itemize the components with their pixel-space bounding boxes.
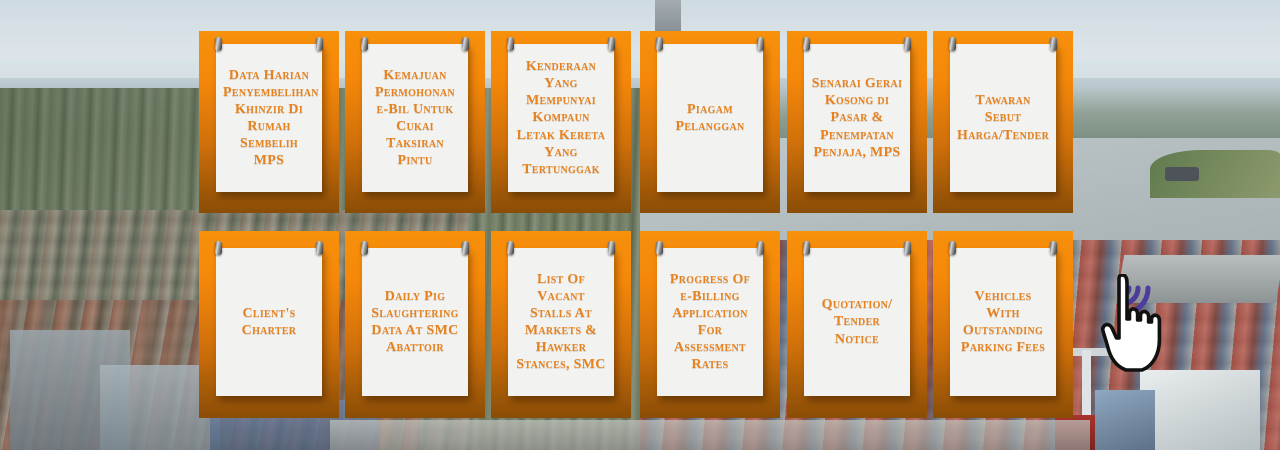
paper-clip-right-icon <box>316 37 323 51</box>
info-card-card-7[interactable]: Client's Charter <box>216 248 322 396</box>
mouse-cursor <box>1078 252 1188 377</box>
paper-clip-right-icon <box>904 37 911 51</box>
page-root: Data Harian Penyembelihan Khinzir Di Rum… <box>0 0 1280 450</box>
paper-clip-left-icon <box>215 241 222 255</box>
paper-clip-left-icon <box>507 241 514 255</box>
info-card-label: Piagam Pelanggan <box>664 101 756 135</box>
info-card-card-3[interactable]: Kenderaan Yang Mempunyai Kompaun Letak K… <box>508 44 614 192</box>
paper-clip-left-icon <box>949 241 956 255</box>
paper-clip-right-icon <box>757 241 764 255</box>
paper-clip-right-icon <box>462 241 469 255</box>
paper-clip-right-icon <box>757 37 764 51</box>
paper-clip-left-icon <box>361 241 368 255</box>
info-card-label: Daily Pig Slaughtering Data At SMC Abatt… <box>369 288 461 356</box>
info-card-card-10[interactable]: Progress Of e-Billing Application For As… <box>657 248 763 396</box>
paper-clip-left-icon <box>507 37 514 51</box>
info-card-label: Tawaran Sebut Harga/Tender <box>957 92 1049 143</box>
paper-clip-left-icon <box>803 241 810 255</box>
info-card-card-1[interactable]: Data Harian Penyembelihan Khinzir Di Rum… <box>216 44 322 192</box>
paper-clip-left-icon <box>656 37 663 51</box>
paper-clip-right-icon <box>608 241 615 255</box>
info-card-label: Quotation/ Tender Notice <box>811 296 903 347</box>
paper-clip-right-icon <box>1050 241 1057 255</box>
info-card-card-5[interactable]: Senarai Gerai Kosong di Pasar & Penempat… <box>804 44 910 192</box>
info-card-label: Vehicles With Outstanding Parking Fees <box>957 288 1049 356</box>
paper-clip-left-icon <box>656 241 663 255</box>
info-card-card-12[interactable]: Vehicles With Outstanding Parking Fees <box>950 248 1056 396</box>
info-card-label: List Of Vacant Stalls At Markets & Hawke… <box>515 271 607 373</box>
paper-clip-right-icon <box>462 37 469 51</box>
info-card-card-2[interactable]: Kemajuan Permohonan e-Bil Untuk Cukai Ta… <box>362 44 468 192</box>
info-card-label: Data Harian Penyembelihan Khinzir Di Rum… <box>223 67 315 169</box>
info-card-card-9[interactable]: List Of Vacant Stalls At Markets & Hawke… <box>508 248 614 396</box>
info-card-label: Senarai Gerai Kosong di Pasar & Penempat… <box>811 75 903 160</box>
info-card-label: Kemajuan Permohonan e-Bil Untuk Cukai Ta… <box>369 67 461 169</box>
paper-clip-left-icon <box>949 37 956 51</box>
pointing-hand-cursor-icon <box>1096 274 1174 374</box>
paper-clip-right-icon <box>316 241 323 255</box>
paper-clip-right-icon <box>1050 37 1057 51</box>
paper-clip-left-icon <box>803 37 810 51</box>
info-card-label: Progress Of e-Billing Application For As… <box>664 271 756 373</box>
info-card-label: Client's Charter <box>223 305 315 339</box>
paper-clip-left-icon <box>215 37 222 51</box>
info-card-card-4[interactable]: Piagam Pelanggan <box>657 44 763 192</box>
info-card-card-8[interactable]: Daily Pig Slaughtering Data At SMC Abatt… <box>362 248 468 396</box>
info-card-label: Kenderaan Yang Mempunyai Kompaun Letak K… <box>515 58 607 178</box>
paper-clip-right-icon <box>608 37 615 51</box>
info-card-card-11[interactable]: Quotation/ Tender Notice <box>804 248 910 396</box>
paper-clip-right-icon <box>904 241 911 255</box>
paper-clip-left-icon <box>361 37 368 51</box>
info-card-card-6[interactable]: Tawaran Sebut Harga/Tender <box>950 44 1056 192</box>
